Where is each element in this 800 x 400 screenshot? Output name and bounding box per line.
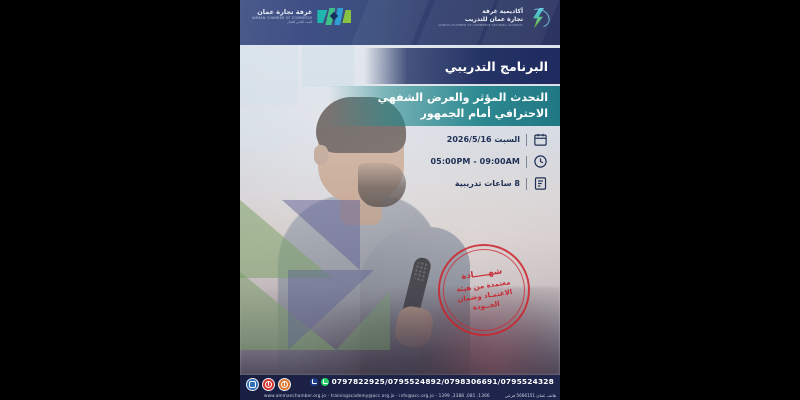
phone-icon [310,378,318,386]
chamber-logo-arabic-name: غرفة تجارة عمان [252,8,312,16]
training-academy-logo: أكاديمية غرفة تجارة عمان للتدريب AMMAN C… [438,7,550,29]
chamber-logo-tagline: البيت الثاني للتجار [252,20,312,25]
detail-separator [526,178,527,190]
detail-row-date: السبت 2026/5/16 [447,132,548,147]
social-links[interactable] [246,378,291,391]
stamp-text: شهـــــادة معتمدة من هيئة الاعتمـاد وضما… [443,249,524,330]
program-title-line2: الاحترافي أمام الجمهور [421,107,548,122]
detail-separator [526,134,527,146]
screenshot-canvas: غرفة تجارة عمان AMMAN CHAMBER OF COMMERC… [0,0,800,400]
geometric-triangle-pattern [240,200,390,350]
academy-logo-english-name: AMMAN CHAMBER OF COMMERCE TRAINING ACADE… [438,24,523,28]
instagram-badge-icon[interactable] [278,378,291,391]
detail-separator [526,156,527,168]
footer-phone-arabic: هاتف عمان 5666151 فرعي [505,393,556,398]
footer-links[interactable]: www.ammanchamber.org.jo - trainingacadem… [264,393,490,398]
certificate-icon [533,176,548,191]
youtube-badge-icon[interactable] [262,378,275,391]
program-title-line1: التحدث المؤثر والعرض الشفهي [378,91,548,106]
calendar-icon [533,132,548,147]
detail-date-label: السبت 2026/5/16 [447,135,520,144]
letterbox-left [0,0,240,400]
header-diagonal-shape [351,0,429,45]
poster-footer: 0797822925/0795524892/0798306691/0795524… [240,375,560,400]
program-kicker-banner: البرنامج التدريبي [364,48,560,84]
program-details-list: السبت 2026/5/16 05:00PM - 09:00AM [348,132,548,191]
training-program-poster: غرفة تجارة عمان AMMAN CHAMBER OF COMMERC… [240,0,560,400]
program-title-banner: التحدث المؤثر والعرض الشفهي الاحترافي أم… [328,86,560,126]
program-kicker-text: البرنامج التدريبي [445,59,548,74]
detail-hours-label: 8 ساعات تدريبية [455,179,520,188]
letterbox-right [560,0,800,400]
clock-icon [533,154,548,169]
contact-phones: 0797822925/0795524892/0798306691/0795524… [310,377,554,386]
facebook-badge-icon[interactable] [246,378,259,391]
amman-chamber-logo: غرفة تجارة عمان AMMAN CHAMBER OF COMMERC… [252,8,351,25]
academy-bolt-mark-icon [528,7,550,29]
phone-numbers: 0797822925/0795524892/0798306691/0795524… [332,377,554,386]
detail-row-time: 05:00PM - 09:00AM [431,154,549,169]
accreditation-stamp: شهـــــادة معتمدة من هيئة الاعتمـاد وضما… [432,238,536,342]
footer-contact-line: www.ammanchamber.org.jo - trainingacadem… [264,393,556,398]
detail-row-hours: 8 ساعات تدريبية [455,176,548,191]
academy-logo-arabic-line1: أكاديمية غرفة [438,8,523,16]
whatsapp-icon [321,378,329,386]
poster-header-band: غرفة تجارة عمان AMMAN CHAMBER OF COMMERC… [240,0,560,45]
stamp-line-4: الجــودة [472,300,500,312]
acc-chevron-mark-icon [317,8,351,25]
detail-time-label: 05:00PM - 09:00AM [431,157,521,166]
